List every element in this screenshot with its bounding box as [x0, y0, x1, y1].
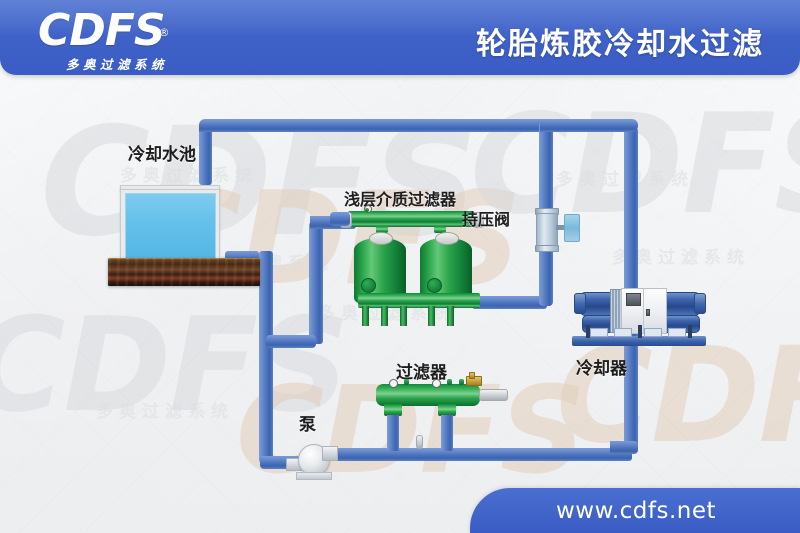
- pipe-mid-crossover: [266, 335, 316, 348]
- label-pump: 泵: [299, 410, 316, 435]
- filter-nub: [404, 379, 409, 385]
- chiller-panel-divider: [643, 289, 644, 333]
- label-cooler: 冷却器: [576, 354, 627, 379]
- media-vessel-2-cap: [435, 232, 459, 245]
- media-vessel-2-port: [427, 278, 442, 293]
- media-vessel-1-port: [361, 278, 376, 293]
- valve-actuator[interactable]: [564, 214, 580, 242]
- pipe-filter-leg-left: [387, 415, 399, 451]
- pipe-top-horizontal: [206, 119, 548, 132]
- pipe-top-right-elbow: [540, 119, 638, 132]
- pump-discharge-nozzle: [322, 446, 338, 461]
- chiller-base-window: [668, 328, 686, 337]
- watermark-cn: 多奥过滤系统: [120, 168, 258, 185]
- filter-gauge-icon: [389, 379, 398, 388]
- pipe-bottom-right-elbow: [610, 441, 638, 454]
- diagram-canvas: CDFS CDFS CDFS CDFS CDFS CDFS 多奥过滤系统 多奥过…: [0, 0, 800, 533]
- pipe-media-inlet-stub: [330, 212, 350, 226]
- label-cooling-pool: 冷却水池: [128, 140, 196, 165]
- pipe-media-inlet-riser: [309, 222, 323, 344]
- watermark-cn: 多奥过滤系统: [96, 404, 234, 421]
- chiller-foot: [688, 325, 692, 338]
- watermark-mark: CDFS: [0, 300, 348, 430]
- website-url[interactable]: www.cdfs.net: [556, 498, 716, 524]
- chiller-head-right: [694, 293, 706, 314]
- chiller-base-window: [590, 328, 608, 337]
- pipe-pool-riser: [199, 125, 212, 185]
- pump-base: [296, 472, 332, 480]
- chiller-foot: [586, 325, 590, 338]
- label-shallow-media-filter: 浅层介质过滤器: [344, 186, 456, 210]
- media-leg: [447, 306, 454, 326]
- brand-logo[interactable]: CDFS ® 多奥过滤系统: [38, 9, 258, 67]
- pipe-pool-downcomer: [259, 251, 273, 463]
- media-top-nub: [365, 208, 369, 212]
- pipe-elbow-pool-top: [199, 119, 215, 132]
- filter-drain-stub: [416, 435, 423, 449]
- filter-outlet-cylinder: [479, 389, 508, 401]
- media-top-manifold-rail: [348, 222, 474, 227]
- media-leg: [400, 306, 407, 326]
- logo-subtitle: 多奥过滤系统: [38, 54, 258, 73]
- media-leg: [428, 306, 435, 326]
- media-leg: [362, 306, 369, 326]
- filter-nub: [447, 379, 452, 385]
- pressure-sustaining-valve[interactable]: [536, 213, 558, 247]
- filter-nub: [459, 379, 464, 385]
- media-leg: [381, 306, 388, 326]
- chiller-panel-handle[interactable]: [646, 309, 650, 316]
- footer-banner: www.cdfs.net: [470, 488, 800, 533]
- page-header: CDFS ® 多奥过滤系统 轮胎炼胶冷却水过滤: [0, 0, 800, 75]
- registered-icon: ®: [159, 11, 169, 55]
- cooling-pool-body: [120, 189, 220, 265]
- pipe-media-outlet: [472, 296, 547, 309]
- chiller-base-window: [614, 328, 632, 337]
- pipe-valve-downleg: [539, 250, 553, 306]
- chiller-head-left: [574, 293, 586, 314]
- chiller-foot: [638, 325, 642, 338]
- chiller-display-screen: [626, 293, 641, 306]
- chiller-base-window: [644, 328, 662, 337]
- page-title: 轮胎炼胶冷却水过滤: [476, 19, 764, 63]
- filter-brass-stem: [469, 372, 475, 379]
- media-vessel-1-cap: [369, 232, 393, 245]
- label-pressure-valve: 持压阀: [462, 206, 510, 230]
- watermark-mark: CDFS: [556, 330, 800, 462]
- valve-flange-bottom: [535, 245, 559, 252]
- media-bottom-manifold-rail: [358, 304, 480, 308]
- pool-wood-base: [108, 258, 260, 286]
- pipe-bottom-return: [316, 448, 632, 461]
- pipe-filter-leg-right: [441, 415, 453, 451]
- filter-gauge-icon: [432, 379, 441, 388]
- logo-wordmark: CDFS ®: [38, 9, 165, 53]
- cooling-pool-water: [125, 193, 216, 261]
